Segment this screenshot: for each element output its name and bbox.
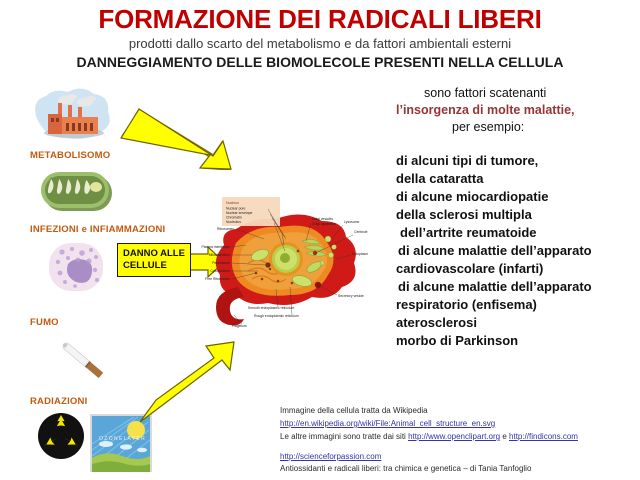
cell-label-lysosome: Lysosome <box>344 220 359 224</box>
callout-line-2: CELLULE <box>123 260 190 272</box>
disease-item-1: di alcuni tipi di tumore, <box>396 153 538 168</box>
animal-cell-diagram: Nucleus Nuclear pore Nuclear envelope Ch… <box>186 193 378 345</box>
cell-label-ribosomes: Ribosomes <box>217 227 234 231</box>
footer-link-findicons[interactable]: http://findicons.com <box>509 432 578 441</box>
disease-item-7: cardiovascolare (infarti) <box>396 261 543 276</box>
arrow-bottom <box>138 338 238 426</box>
source-label-metabolism: METABOLISOMO <box>30 150 110 161</box>
svg-text:O Z O N E L A Y E R: O Z O N E L A Y E R <box>99 436 145 442</box>
page-subtitle-secondary: DANNEGGIAMENTO DELLE BIOMOLECOLE PRESENT… <box>0 54 640 70</box>
cell-label-centriole: Centriole <box>354 230 368 234</box>
danno-alle-cellule-callout: DANNO ALLE CELLULE <box>117 243 191 277</box>
footer-link-scienceforpassion[interactable]: http://scienceforpassion.com <box>280 452 381 461</box>
disease-item-10: aterosclerosi <box>396 315 477 330</box>
footer-line-3: Antiossidanti e radicali liberi: tra chi… <box>280 464 531 473</box>
cell-label-secretory-vesicle: Secretory vesicle <box>338 294 364 298</box>
cell-label-mitochondrion: Mitochondrion <box>209 253 230 257</box>
footer-link-wikipedia[interactable]: http://en.wikipedia.org/wiki/File:Animal… <box>280 419 495 428</box>
footer-line-2-pre: Le altre immagini sono tratte dai siti <box>280 432 408 441</box>
disease-item-6: di alcune malattie dell’apparato <box>398 243 592 258</box>
disease-item-4: della sclerosi multipla <box>396 207 532 222</box>
cell-label-golgi-apparatus: Golgi apparatus <box>312 222 336 226</box>
cell-label-nuclear-pore: Nuclear pore <box>226 207 246 211</box>
right-intro-line-3: per esempio: <box>452 120 524 134</box>
slide-canvas: FORMAZIONE DEI RADICALI LIBERI prodotti … <box>0 0 640 480</box>
cell-label-nucleus: Nucleus <box>226 201 239 205</box>
footer-line-2: Le altre immagini sono tratte dai siti h… <box>280 432 578 441</box>
cigarette-icon <box>48 330 118 392</box>
disease-item-2: della cataratta <box>396 171 483 186</box>
cell-label-nuclear-envelope: Nuclear envelope <box>226 211 253 215</box>
footer-line-1: Immagine della cellula tratta da Wikiped… <box>280 406 428 415</box>
disease-item-3: di alcune miocardiopatie <box>396 189 548 204</box>
source-label-infections: INFEZIONI e INFIAMMAZIONI <box>30 224 165 235</box>
cell-label-nucleolus: Nucleolus <box>226 220 241 224</box>
cell-label-plasma-membrane: Plasma membrane <box>202 245 231 249</box>
footer-link-openclipart[interactable]: http://www.openclipart.org <box>408 432 500 441</box>
callout-line-1: DANNO ALLE <box>123 248 190 260</box>
disease-item-5: dell’artrite reumatoide <box>400 225 537 240</box>
arrow-top <box>118 98 236 170</box>
cell-label-cytoplasm: Cytoplasm <box>352 252 368 256</box>
source-label-radiation: RADIAZIONI <box>30 396 87 407</box>
right-intro-line-2: l’insorgenza di molte malattie, <box>396 103 575 117</box>
disease-item-9: respiratorio (enfisema) <box>396 297 537 312</box>
white-blood-cell-icon <box>40 240 114 295</box>
cell-label-smooth-er: Smooth endoplasmic reticulum <box>248 306 295 310</box>
factory-icon <box>30 86 116 146</box>
source-label-smoke: FUMO <box>30 317 59 328</box>
mitochondrion-icon <box>38 167 118 217</box>
footer-line-2-mid: e <box>500 432 509 441</box>
page-subtitle: prodotti dallo scarto del metabolismo e … <box>0 36 640 51</box>
cell-label-golgi-vesicles: Golgi vesicles <box>312 217 333 221</box>
cell-label-chromatin: Chromatin <box>226 216 242 220</box>
cell-label-free-ribosomes: Free Ribosomes <box>205 277 230 281</box>
right-intro-line-1: sono fattori scatenanti <box>424 86 546 100</box>
cell-label-cytoskeleton: Cytoskeleton <box>210 269 230 273</box>
disease-item-8: di alcune malattie dell’apparato <box>398 279 592 294</box>
cell-label-flagellum: Flagellum <box>232 324 247 328</box>
disease-item-11: morbo di Parkinson <box>396 333 518 348</box>
radiation-trefoil-icon <box>37 412 85 460</box>
page-title: FORMAZIONE DEI RADICALI LIBERI <box>0 4 640 35</box>
cell-label-peroxisome: Peroxisome <box>212 261 230 265</box>
